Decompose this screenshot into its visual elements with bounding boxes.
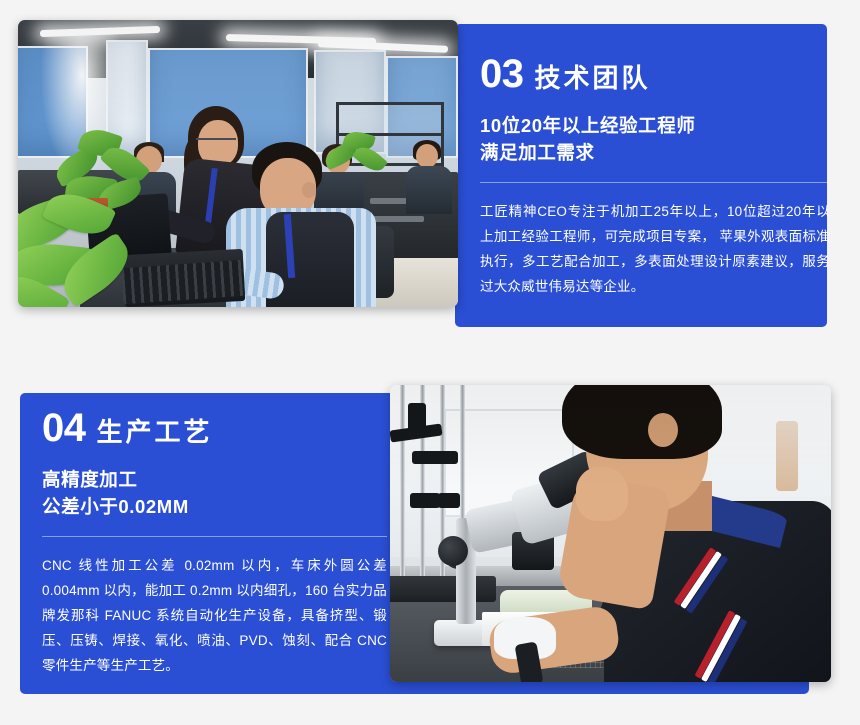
fixture-clamp <box>438 493 460 508</box>
section-03-body: 工匠精神CEO专注于机加工25年以上，10位超过20年以上加工经验工程师，可完成… <box>480 199 830 299</box>
technician-ear <box>648 413 678 447</box>
measurement-stand-base <box>390 576 496 602</box>
background-worker <box>406 144 452 218</box>
section-number: 03 <box>480 53 524 95</box>
seated-engineer <box>240 142 390 307</box>
fixture-clamp <box>436 451 458 464</box>
subtitle-line: 满足加工需求 <box>480 139 830 166</box>
technician-hand <box>576 467 628 521</box>
fixture-clamp <box>410 493 440 508</box>
photo-scene-microscope <box>390 385 831 682</box>
section-number: 04 <box>42 407 86 449</box>
microscope-focus-knob <box>438 536 468 566</box>
photo-scene-office <box>18 20 458 307</box>
foreground-plant <box>18 196 152 307</box>
section-03-text-block: 03 技术团队 10位20年以上经验工程师 满足加工需求 工匠精神CEO专注于机… <box>480 53 830 299</box>
eyeglasses <box>196 138 236 147</box>
section-card-04: 04 生产工艺 高精度加工 公差小于0.02MM CNC 线性加工公差 0.02… <box>20 385 831 694</box>
technician-microscope-inspection-photo <box>390 385 831 682</box>
section-title: 技术团队 <box>535 58 651 95</box>
subtitle-line: 高精度加工 <box>42 466 387 493</box>
section-04-subtitle: 高精度加工 公差小于0.02MM <box>42 466 387 520</box>
subtitle-line: 10位20年以上经验工程师 <box>480 112 830 139</box>
section-04-divider <box>42 536 387 537</box>
section-03-subtitle: 10位20年以上经验工程师 满足加工需求 <box>480 112 830 166</box>
section-04-text-block: 04 生产工艺 高精度加工 公差小于0.02MM CNC 线性加工公差 0.02… <box>42 407 387 678</box>
section-04-body: CNC 线性加工公差 0.02mm 以内，车床外圆公差0.004mm 以内，能加… <box>42 553 387 678</box>
section-card-03: 03 技术团队 10位20年以上经验工程师 满足加工需求 工匠精神CEO专注于机… <box>18 20 827 327</box>
office-engineering-team-photo <box>18 20 458 307</box>
section-03-heading: 03 技术团队 <box>480 53 830 95</box>
background-container <box>776 421 798 491</box>
measurement-rod <box>400 385 405 582</box>
section-title: 生产工艺 <box>97 412 213 449</box>
product-detail-page: 03 技术团队 10位20年以上经验工程师 满足加工需求 工匠精神CEO专注于机… <box>0 0 860 725</box>
technician-hair <box>562 385 722 459</box>
section-04-heading: 04 生产工艺 <box>42 407 387 449</box>
section-03-divider <box>480 182 830 183</box>
subtitle-line: 公差小于0.02MM <box>42 493 387 520</box>
